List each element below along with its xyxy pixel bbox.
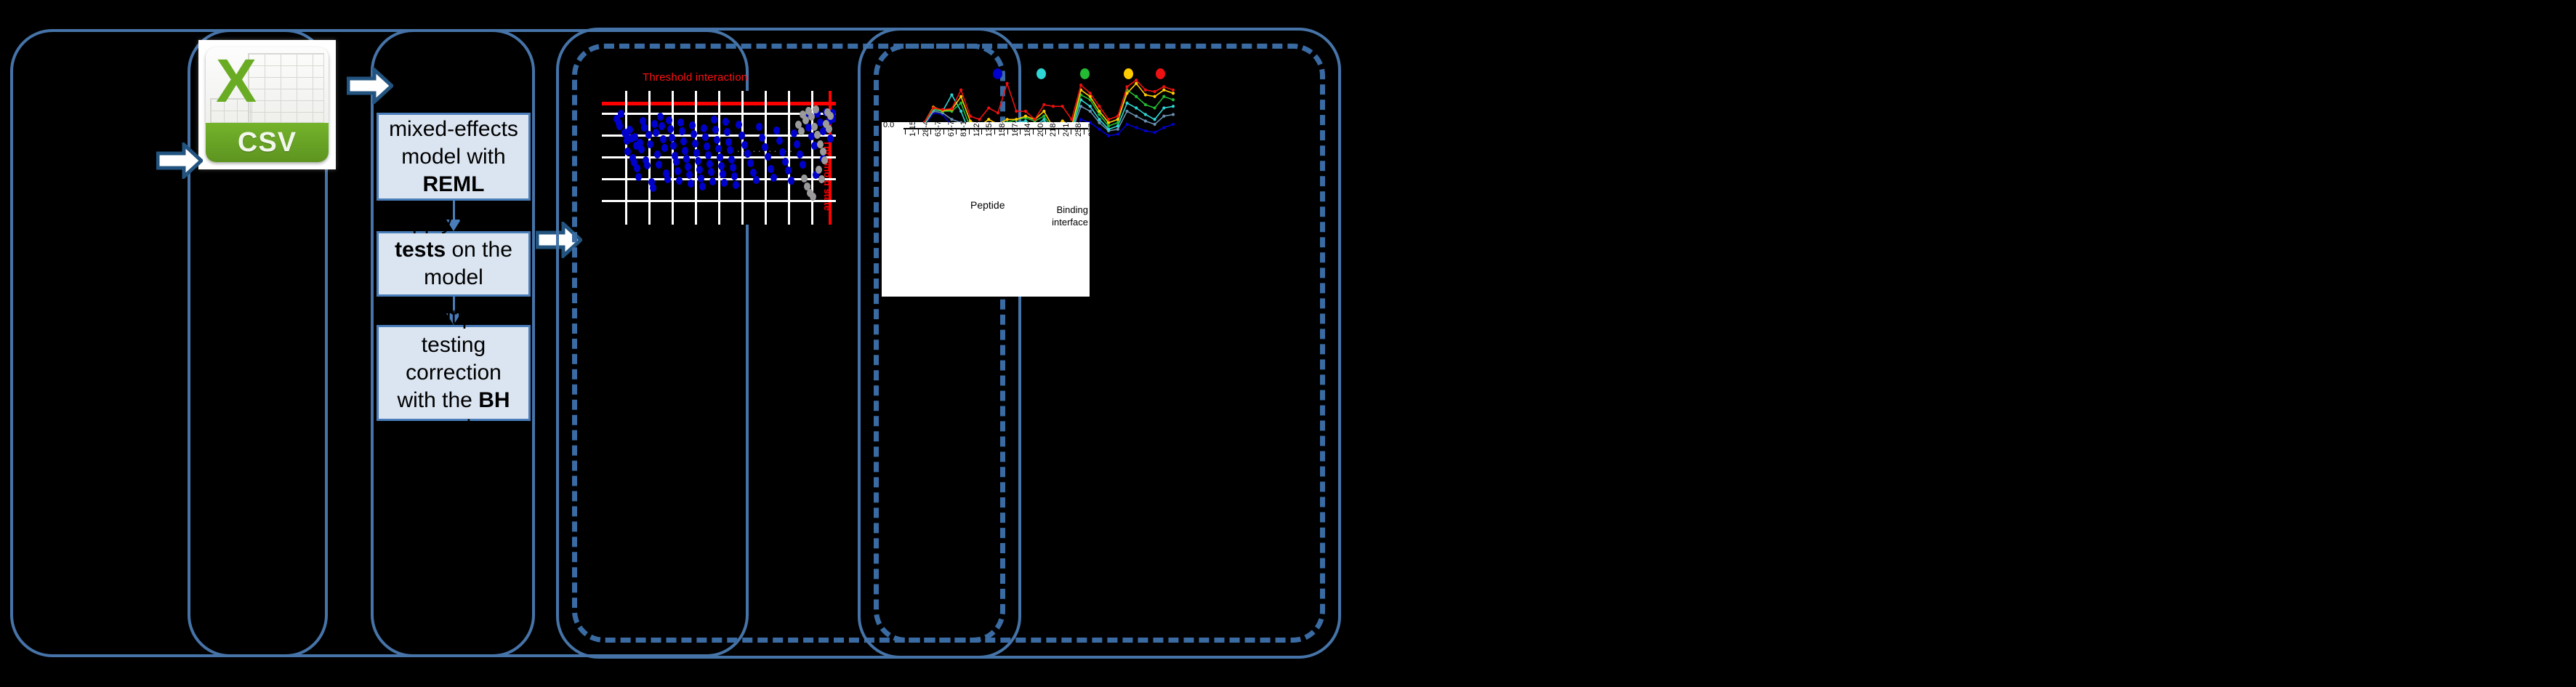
scatter-point-nonsignificant bbox=[826, 125, 832, 133]
scatter-point-significant bbox=[677, 118, 684, 126]
legend-dot-yellow bbox=[1124, 68, 1133, 79]
peptide-data-point bbox=[1089, 105, 1092, 108]
peptide-data-point bbox=[950, 93, 953, 96]
peptide-data-point bbox=[1162, 85, 1165, 88]
scatter-point-significant bbox=[770, 174, 777, 182]
scatter-point-significant bbox=[650, 184, 656, 192]
scatter-point-significant bbox=[685, 163, 691, 171]
csv-sheet: X bbox=[206, 47, 329, 123]
scatter-point-nonsignificant bbox=[818, 175, 825, 183]
scatter-point-significant bbox=[644, 161, 651, 169]
peptide-data-point bbox=[1144, 119, 1147, 122]
peptide-data-point bbox=[978, 118, 981, 121]
peptide-data-point bbox=[1144, 103, 1147, 106]
peptide-tick-label: 28-44 bbox=[922, 122, 930, 137]
peptide-data-point bbox=[1107, 121, 1110, 124]
scatter-point-significant bbox=[695, 157, 701, 165]
scatter-point-significant bbox=[660, 135, 667, 143]
scatter-point-significant bbox=[741, 141, 748, 149]
x-axis-tick bbox=[918, 129, 919, 134]
scatter-point-nonsignificant bbox=[810, 193, 816, 201]
spreadsheet-grid-upper bbox=[248, 53, 324, 123]
peptide-data-point bbox=[1098, 110, 1100, 113]
scatter-point-significant bbox=[724, 128, 730, 136]
peptide-data-point bbox=[1089, 92, 1092, 95]
scatter-point-significant bbox=[708, 168, 715, 176]
peptide-data-point bbox=[987, 118, 990, 121]
peptide-data-point bbox=[1135, 106, 1138, 109]
scatter-point-significant bbox=[647, 140, 653, 148]
peptide-data-point bbox=[1052, 105, 1055, 108]
peptide-tick-label: 63-73 bbox=[934, 122, 943, 137]
peptide-data-point bbox=[1135, 115, 1138, 118]
peptide-data-point bbox=[1107, 124, 1110, 127]
scatter-point-significant bbox=[692, 140, 699, 148]
peptide-data-point bbox=[959, 102, 962, 105]
peptide-data-point bbox=[1154, 95, 1156, 98]
peptide-data-point bbox=[987, 106, 990, 109]
scatter-point-significant bbox=[676, 177, 683, 185]
x-axis-tick bbox=[943, 129, 944, 134]
peptide-data-point bbox=[1005, 118, 1008, 121]
peptide-data-point bbox=[1034, 118, 1037, 121]
peptide-data-point bbox=[959, 95, 962, 98]
scatter-point-significant bbox=[707, 160, 713, 168]
scatter-point-significant bbox=[651, 120, 658, 128]
scatter-point-significant bbox=[797, 150, 803, 158]
scatter-point-significant bbox=[788, 177, 794, 185]
scatter-point-significant bbox=[782, 158, 789, 166]
scatter-point-significant bbox=[744, 150, 751, 158]
peptide-data-point bbox=[1116, 115, 1119, 118]
scatter-point-significant bbox=[670, 142, 677, 150]
scatter-point-significant bbox=[785, 166, 792, 174]
peptide-data-point bbox=[1135, 126, 1138, 129]
peptide-data-point bbox=[1079, 84, 1082, 87]
scatter-point-significant bbox=[666, 116, 672, 124]
scatter-point-significant bbox=[715, 145, 722, 153]
peptide-tick-label: 135-144 bbox=[985, 122, 994, 137]
scatter-point-significant bbox=[689, 121, 696, 129]
scatter-point-significant bbox=[791, 129, 797, 137]
scatter-point-significant bbox=[686, 171, 693, 179]
scatter-point-significant bbox=[717, 153, 723, 161]
x-axis-tick bbox=[981, 129, 982, 134]
scatter-point-significant bbox=[773, 126, 780, 134]
peptide-tick-label: 67-75 bbox=[947, 122, 956, 137]
peptide-tick-label: 1-15 bbox=[909, 122, 917, 137]
x-axis-tick bbox=[1071, 129, 1071, 134]
peptide-tick-label: 241-257 bbox=[1062, 122, 1071, 137]
legend-dot-green bbox=[1080, 68, 1090, 79]
peptide-data-point bbox=[1042, 115, 1045, 118]
peptide-data-point bbox=[1135, 82, 1138, 85]
excel-x-glyph: X bbox=[216, 50, 257, 111]
arrow-into-input-icon bbox=[156, 142, 203, 179]
peptide-data-point bbox=[1024, 110, 1027, 113]
peptide-data-point bbox=[1144, 89, 1147, 92]
scatter-point-significant bbox=[693, 149, 700, 157]
scatter-point-significant bbox=[711, 116, 717, 124]
peptide-data-point bbox=[1162, 126, 1165, 129]
csv-card: X CSV bbox=[206, 47, 329, 162]
scatter-point-nonsignificant bbox=[808, 113, 815, 121]
scatter-point-significant bbox=[712, 126, 719, 134]
peptide-data-point bbox=[1172, 92, 1175, 95]
scatter-point-significant bbox=[618, 110, 624, 118]
x-axis-tick bbox=[1084, 129, 1084, 134]
scatter-point-nonsignificant bbox=[814, 131, 821, 139]
peptide-data-point bbox=[959, 110, 962, 113]
x-axis-tick bbox=[994, 129, 995, 134]
peptide-data-point bbox=[1098, 121, 1100, 124]
peptide-data-point bbox=[1107, 128, 1110, 131]
scatter-point-significant bbox=[725, 138, 732, 146]
legend-dot-red bbox=[1156, 68, 1165, 79]
scatter-point-significant bbox=[653, 129, 659, 137]
peptide-data-point bbox=[969, 115, 972, 118]
peptide-data-point bbox=[1162, 89, 1165, 92]
peptide-data-point bbox=[1172, 113, 1175, 116]
scatter-point-nonsignificant bbox=[821, 156, 828, 164]
scatter-point-nonsignificant bbox=[798, 127, 805, 135]
scatter-point-significant bbox=[776, 137, 783, 145]
scatter-point-significant bbox=[641, 124, 648, 132]
multiple-testing-step-text: Multiple testing correction with the BH … bbox=[385, 304, 523, 442]
y-axis-tick-label: 0.0 bbox=[883, 122, 894, 129]
peptide-data-point bbox=[1116, 118, 1119, 121]
peptide-data-point bbox=[950, 118, 953, 121]
legend-dot-cyan bbox=[1037, 68, 1046, 79]
threshold-scatter-plot: Threshold state . . . . . . . . . . . bbox=[602, 91, 836, 225]
scatter-point-significant bbox=[705, 151, 712, 159]
scatter-point-significant bbox=[656, 161, 662, 169]
scatter-point-significant bbox=[727, 146, 733, 154]
peptide-data-point bbox=[1154, 90, 1156, 93]
scatter-point-significant bbox=[702, 133, 709, 141]
scatter-point-significant bbox=[634, 164, 640, 172]
peptide-data-point bbox=[1116, 128, 1119, 131]
x-axis-tick bbox=[1007, 129, 1008, 134]
binding-interface-label-line1: Binding bbox=[1057, 204, 1088, 216]
scatter-point-significant bbox=[667, 125, 674, 133]
peptide-data-point bbox=[1162, 95, 1165, 98]
x-axis-tick bbox=[930, 129, 931, 134]
scatter-point-significant bbox=[714, 136, 720, 144]
peptide-data-point bbox=[1005, 82, 1008, 85]
peptide-data-point bbox=[1172, 89, 1175, 92]
threshold-interaction-label: Threshold interaction bbox=[643, 71, 747, 84]
peptide-tick-label: 277-284 bbox=[1087, 122, 1090, 137]
peptide-data-point bbox=[1162, 106, 1165, 109]
peptide-data-point bbox=[1154, 106, 1156, 109]
scatter-point-significant bbox=[657, 113, 664, 121]
scatter-point-significant bbox=[654, 150, 661, 158]
x-axis-tick bbox=[969, 129, 970, 134]
peptide-data-point bbox=[997, 111, 999, 114]
scatter-point-significant bbox=[664, 175, 671, 183]
binding-interface-label-line2: interface bbox=[1052, 216, 1088, 228]
peptide-data-point bbox=[1042, 103, 1045, 106]
scatter-point-significant bbox=[728, 156, 735, 164]
scatter-point-significant bbox=[731, 172, 738, 180]
peptide-tick-label: 158-166 bbox=[998, 122, 1007, 137]
peptide-tick-label: 218-237 bbox=[1049, 122, 1058, 137]
scatter-point-significant bbox=[698, 174, 704, 182]
scatter-point-significant bbox=[800, 161, 806, 169]
peptide-data-point bbox=[1154, 123, 1156, 126]
x-axis-tick bbox=[1020, 129, 1021, 134]
peptide-data-point bbox=[1079, 118, 1082, 121]
peptide-data-point bbox=[1015, 110, 1018, 113]
peptide-data-point bbox=[1135, 95, 1138, 98]
peptide-data-point bbox=[1144, 93, 1147, 96]
scatter-point-significant bbox=[779, 148, 786, 156]
peptide-data-point bbox=[1172, 105, 1175, 108]
scatter-point-significant bbox=[709, 177, 716, 185]
peptide-data-point bbox=[1144, 129, 1147, 132]
csv-label-band: CSV bbox=[206, 123, 329, 162]
scatter-point-significant bbox=[688, 180, 694, 188]
arrow-csv-to-stats-icon bbox=[347, 68, 393, 104]
peptide-data-point bbox=[1125, 123, 1128, 126]
peptide-data-point bbox=[1098, 128, 1100, 131]
scatter-point-significant bbox=[733, 181, 739, 189]
peptide-data-point bbox=[1125, 102, 1128, 105]
peptide-data-point bbox=[1154, 131, 1156, 134]
x-axis-tick bbox=[1033, 129, 1034, 134]
scatter-point-significant bbox=[762, 143, 768, 151]
scatter-point-significant bbox=[627, 126, 633, 134]
scatter-point-significant bbox=[759, 134, 765, 142]
peptide-data-point bbox=[1070, 118, 1073, 121]
scatter-point-significant bbox=[730, 164, 736, 172]
scatter-point-significant bbox=[673, 158, 680, 166]
legend-dot-blue bbox=[993, 68, 1002, 79]
scatter-point-significant bbox=[721, 179, 728, 187]
csv-file-icon[interactable]: X CSV bbox=[198, 40, 336, 169]
scatter-point-significant bbox=[736, 121, 742, 129]
peptide-data-point bbox=[1116, 132, 1119, 135]
scatter-point-significant bbox=[794, 140, 800, 148]
peptide-data-point bbox=[1107, 134, 1110, 137]
scatter-point-significant bbox=[679, 127, 685, 135]
peptide-data-point bbox=[950, 108, 953, 111]
peptide-data-point bbox=[1116, 124, 1119, 127]
peptide-data-point bbox=[1154, 118, 1156, 121]
x-axis-tick bbox=[1045, 129, 1046, 134]
x-axis-tick bbox=[905, 129, 906, 134]
scatter-point-significant bbox=[738, 132, 745, 140]
wald-tests-step[interactable]: Apply Wald tests on the model parameters bbox=[377, 231, 531, 297]
peptide-data-point bbox=[1135, 79, 1138, 81]
scatter-point-significant bbox=[682, 147, 688, 155]
scatter-point-significant bbox=[720, 170, 726, 178]
scatter-point-significant bbox=[669, 134, 675, 142]
peptide-axis-card: 0.0 1-1528-4463-7367-7581-101122-129135-… bbox=[882, 122, 1090, 297]
scatter-point-significant bbox=[691, 130, 697, 138]
figure-canvas: X CSV Fit a linear mixed-effects model w… bbox=[0, 0, 2576, 687]
peptide-data-point bbox=[941, 108, 944, 111]
peptide-data-point bbox=[1015, 118, 1018, 121]
fit-model-step[interactable]: Fit a linear mixed-effects model with RE… bbox=[377, 113, 531, 201]
peptide-data-point bbox=[1089, 110, 1092, 113]
peptide-data-point bbox=[1116, 121, 1119, 124]
scatter-point-significant bbox=[683, 155, 690, 163]
peptide-tick-label: 184-199 bbox=[1023, 122, 1032, 137]
scatter-point-significant bbox=[765, 153, 771, 161]
x-axis-tick bbox=[956, 129, 957, 134]
multiple-testing-step[interactable]: Multiple testing correction with the BH … bbox=[377, 325, 531, 421]
peptide-data-point bbox=[932, 106, 935, 109]
scatter-point-significant bbox=[680, 137, 687, 145]
scatter-point-significant bbox=[635, 173, 642, 181]
peptide-data-point bbox=[1162, 115, 1165, 118]
x-axis-title: Peptide bbox=[970, 199, 1005, 211]
peptide-tick-label: 81-101 bbox=[959, 122, 968, 137]
scatter-point-significant bbox=[768, 165, 774, 173]
peptide-data-point bbox=[1098, 105, 1100, 108]
scatter-point-significant bbox=[718, 162, 725, 170]
peptide-data-point bbox=[1042, 110, 1045, 113]
scatter-point-significant bbox=[701, 124, 707, 132]
scatter-point-significant bbox=[645, 131, 652, 139]
scatter-point-significant bbox=[696, 166, 703, 174]
peptide-tick-label: 167-180 bbox=[1011, 122, 1020, 137]
peptide-data-point bbox=[1144, 113, 1147, 116]
scatter-point-nonsignificant bbox=[813, 105, 819, 113]
scatter-point-significant bbox=[638, 145, 645, 153]
csv-label: CSV bbox=[238, 127, 297, 158]
scatter-point-significant bbox=[756, 123, 762, 131]
scatter-point-significant bbox=[753, 176, 760, 184]
scatter-point-significant bbox=[704, 142, 710, 150]
peptide-tick-label: 258-266 bbox=[1074, 122, 1083, 137]
peptide-tick-label: 200-214 bbox=[1037, 122, 1045, 137]
peptide-data-point bbox=[1098, 118, 1100, 121]
x-axis-tick bbox=[1058, 129, 1059, 134]
scatter-point-significant bbox=[827, 134, 834, 142]
scatter-point-significant bbox=[659, 122, 665, 130]
peptide-data-point bbox=[959, 89, 962, 92]
scatter-point-significant bbox=[723, 118, 729, 126]
scatter-point-significant bbox=[747, 159, 754, 167]
scatter-point-significant bbox=[699, 182, 706, 190]
scatter-point-nonsignificant bbox=[801, 174, 808, 182]
peptide-data-point bbox=[1172, 98, 1175, 101]
peptide-data-point bbox=[1125, 85, 1128, 88]
peptide-data-point bbox=[1172, 123, 1175, 126]
peptide-data-point bbox=[1061, 105, 1064, 108]
peptide-data-point bbox=[1024, 115, 1027, 118]
grid-line-horizontal bbox=[602, 200, 836, 202]
scatter-point-significant bbox=[675, 167, 681, 175]
scatter-point-nonsignificant bbox=[811, 123, 818, 131]
scatter-point-significant bbox=[661, 144, 668, 152]
scatter-point-nonsignificant bbox=[827, 112, 834, 120]
scatter-point-nonsignificant bbox=[816, 166, 822, 174]
peptide-tick-label: 122-129 bbox=[973, 122, 981, 137]
peptide-data-point bbox=[1125, 110, 1128, 113]
scatter-point-nonsignificant bbox=[820, 148, 826, 156]
peptide-data-point bbox=[1107, 118, 1110, 121]
